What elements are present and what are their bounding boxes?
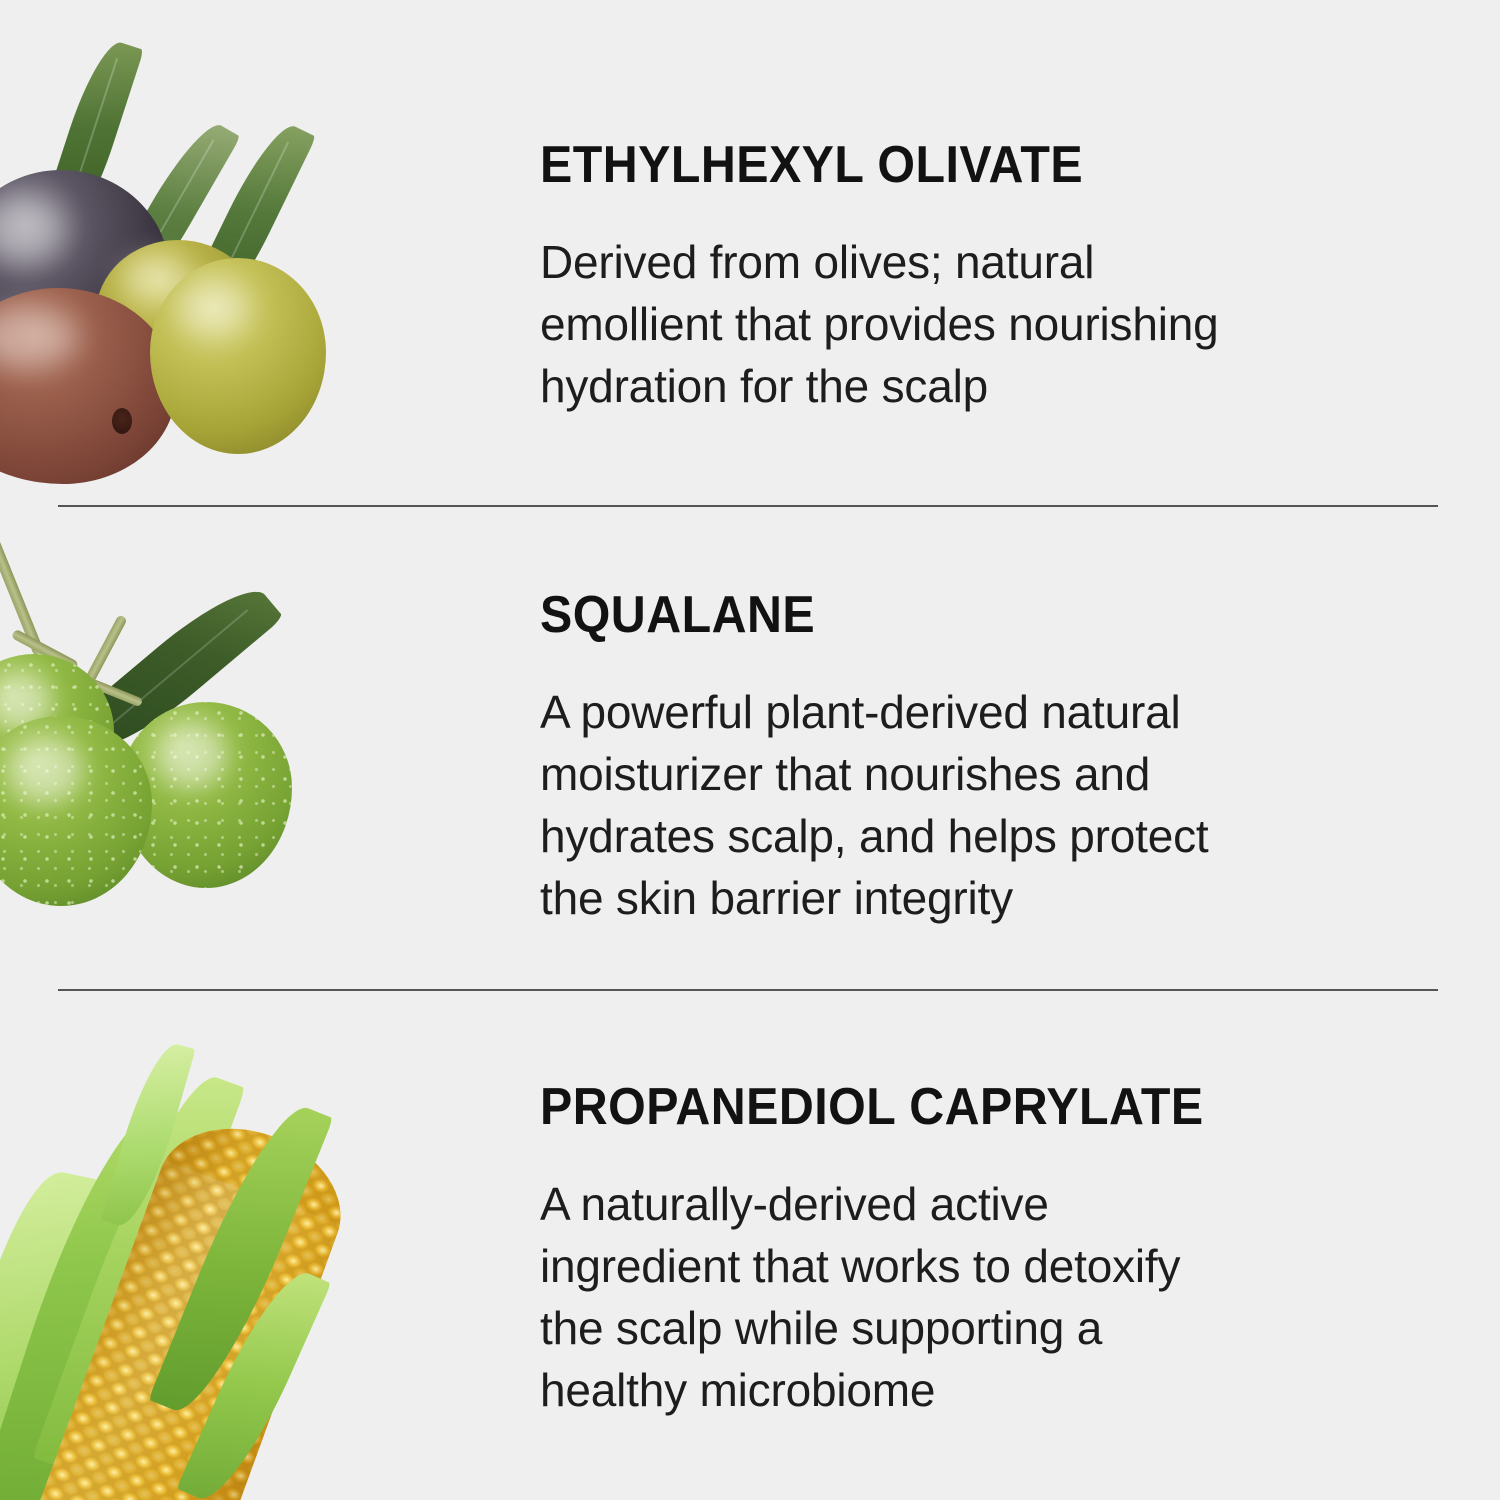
- ingredient-description: A powerful plant-derived natural moistur…: [540, 681, 1240, 929]
- ingredient-copy: PROPANEDIOL CAPRYLATE A naturally-derive…: [500, 990, 1500, 1421]
- ingredient-section-propanediol-caprylate: PROPANEDIOL CAPRYLATE A naturally-derive…: [0, 990, 1500, 1500]
- ingredient-image-green-olives: [0, 506, 500, 990]
- ingredient-title: SQUALANE: [540, 588, 1433, 643]
- ingredient-title: PROPANEDIOL CAPRYLATE: [540, 1080, 1433, 1135]
- ingredient-benefits-panel: ETHYLHEXYL OLIVATE Derived from olives; …: [0, 0, 1500, 1500]
- ingredient-image-olives-mixed: [0, 0, 500, 506]
- ingredient-title: ETHYLHEXYL OLIVATE: [540, 138, 1433, 193]
- olive-stem-dimple: [112, 408, 132, 434]
- ingredient-image-corn: [0, 990, 500, 1500]
- large-green-olive-fruit: [150, 258, 326, 454]
- ingredient-copy: ETHYLHEXYL OLIVATE Derived from olives; …: [500, 0, 1500, 417]
- ingredient-section-squalane: SQUALANE A powerful plant-derived natura…: [0, 506, 1500, 990]
- ingredient-copy: SQUALANE A powerful plant-derived natura…: [500, 506, 1500, 929]
- green-olive-fruit: [0, 716, 152, 906]
- corn-illustration: [0, 1042, 360, 1500]
- ingredient-description: Derived from olives; natural emollient t…: [540, 231, 1240, 417]
- ingredient-section-ethylhexyl-olivate: ETHYLHEXYL OLIVATE Derived from olives; …: [0, 0, 1500, 506]
- ingredient-description: A naturally-derived active ingredient th…: [540, 1173, 1240, 1421]
